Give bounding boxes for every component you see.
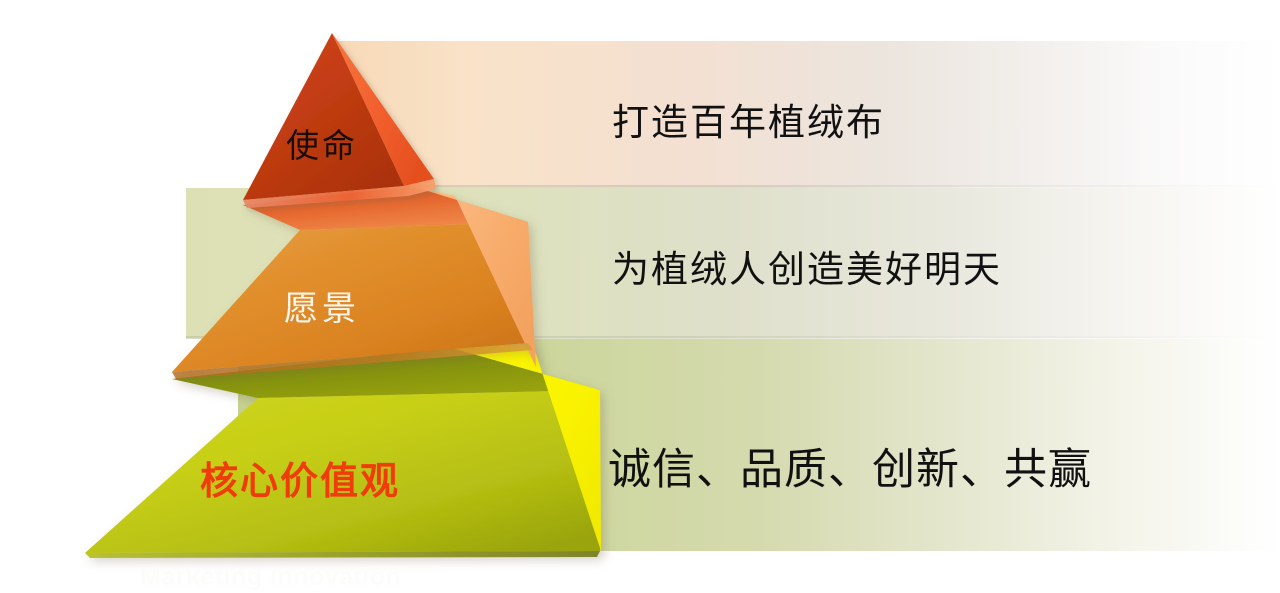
statement-core-values: 诚信、品质、创新、共赢 — [608, 435, 1092, 497]
statement-mission: 打造百年植绒布 — [612, 92, 885, 146]
tier-label-mission: 使命 — [286, 119, 358, 167]
tier-label-core-values: 核心价值观 — [200, 450, 400, 505]
statement-vision: 为植绒人创造美好明天 — [612, 239, 1002, 293]
tier-label-vision: 愿景 — [284, 281, 360, 330]
pyramid-graphic — [0, 0, 1280, 593]
pyramid-diagram-canvas: 使命 愿景 核心价值观 打造百年植绒布 为植绒人创造美好明天 诚信、品质、创新、… — [0, 0, 1280, 593]
watermark-text: Marketing Innovation — [140, 563, 401, 592]
